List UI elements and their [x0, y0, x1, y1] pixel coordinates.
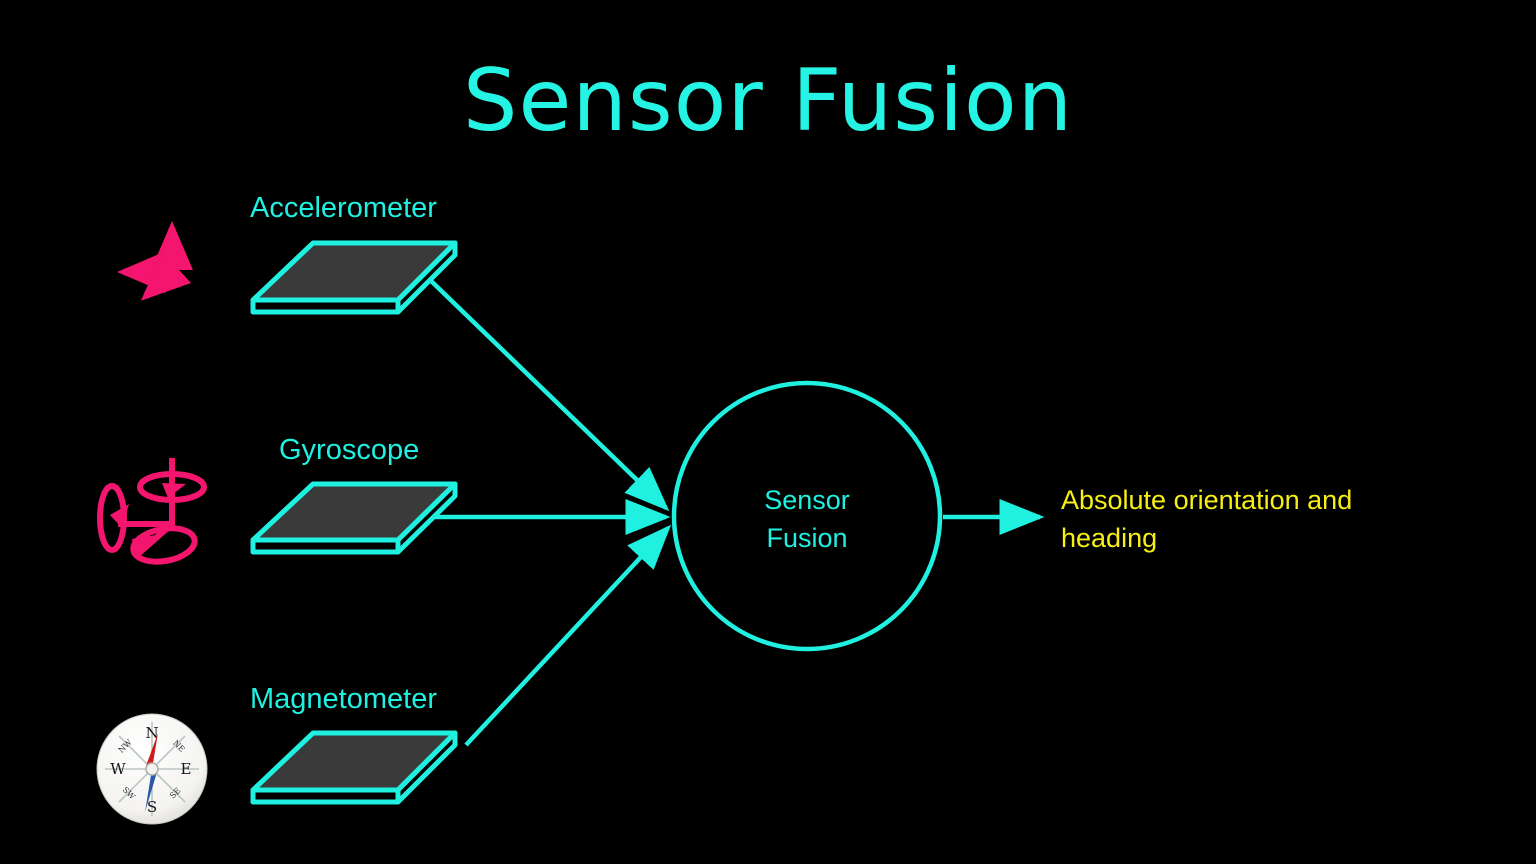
compass-label-w: W	[110, 760, 126, 778]
sensor-label-accelerometer: Accelerometer	[250, 192, 437, 225]
output-label-line2: heading	[1061, 519, 1461, 557]
sensor-fusion-hub-label: Sensor Fusion	[707, 482, 907, 558]
compass-label-s: S	[147, 798, 157, 816]
accelerometer-axes-icon	[124, 228, 172, 296]
output-label: Absolute orientation and heading	[1061, 481, 1461, 558]
gyroscope-chip	[253, 484, 455, 552]
accelerometer-chip	[253, 243, 455, 312]
output-label-line1: Absolute orientation and	[1061, 481, 1461, 519]
diagram-vector-layer: N E S W NE SE SW NW	[0, 0, 1536, 864]
sensor-label-gyroscope: Gyroscope	[279, 434, 419, 467]
connector-accelerometer-to-hub	[428, 278, 666, 508]
gyroscope-rotation-icon	[100, 458, 204, 566]
magnetometer-chip	[253, 733, 455, 802]
hub-label-line1: Sensor	[707, 482, 907, 520]
connector-magnetometer-to-hub	[466, 528, 668, 745]
compass-icon: N E S W NE SE SW NW	[97, 714, 207, 824]
sensor-label-magnetometer: Magnetometer	[250, 683, 437, 716]
hub-label-line2: Fusion	[707, 520, 907, 558]
slide-canvas: Sensor Fusion	[0, 0, 1536, 864]
compass-label-e: E	[181, 760, 192, 778]
